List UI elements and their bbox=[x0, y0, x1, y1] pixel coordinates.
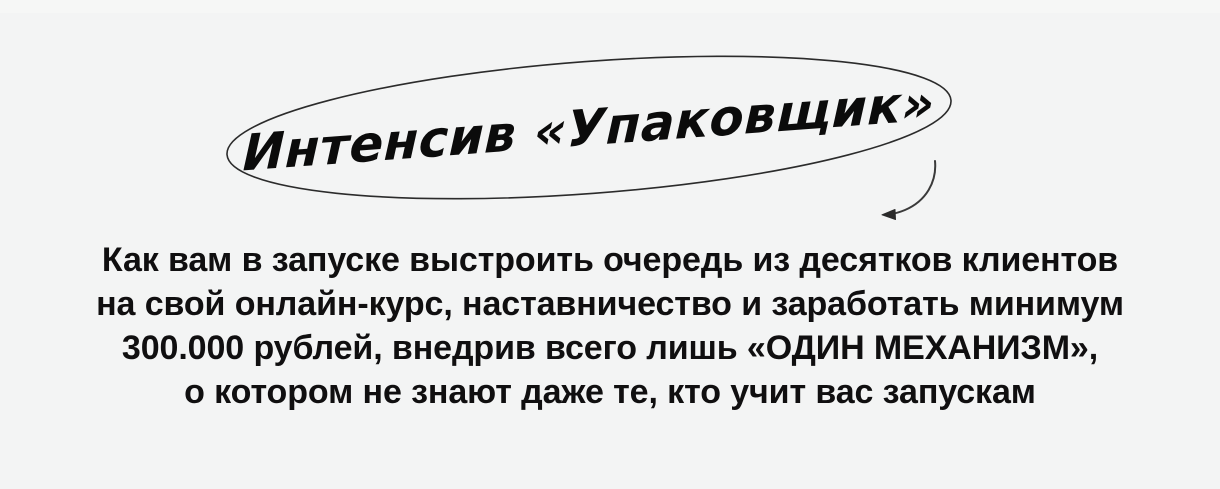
course-badge: Интенсив «Упаковщик» bbox=[0, 0, 1220, 240]
headline-line-1: Как вам в запуске выстроить очередь из д… bbox=[0, 238, 1220, 282]
slide-canvas: Интенсив «Упаковщик» Как вам в запуске в… bbox=[0, 0, 1220, 489]
badge-title: Интенсив «Упаковщик» bbox=[222, 36, 956, 220]
headline-line-4: о котором не знают даже те, кто учит вас… bbox=[0, 370, 1220, 414]
badge-graphics bbox=[0, 0, 1220, 240]
ellipse-outline-icon bbox=[222, 34, 956, 220]
arrow-head-icon bbox=[882, 210, 896, 220]
badge-title-text: Интенсив «Упаковщик» bbox=[242, 73, 936, 182]
headline: Как вам в запуске выстроить очередь из д… bbox=[0, 238, 1220, 414]
headline-line-3: 300.000 рублей, внедрив всего лишь «ОДИН… bbox=[0, 326, 1220, 370]
curved-arrow-icon bbox=[888, 161, 935, 215]
headline-line-2: на свой онлайн-курс, наставничество и за… bbox=[0, 282, 1220, 326]
top-edge-band bbox=[0, 0, 1220, 13]
